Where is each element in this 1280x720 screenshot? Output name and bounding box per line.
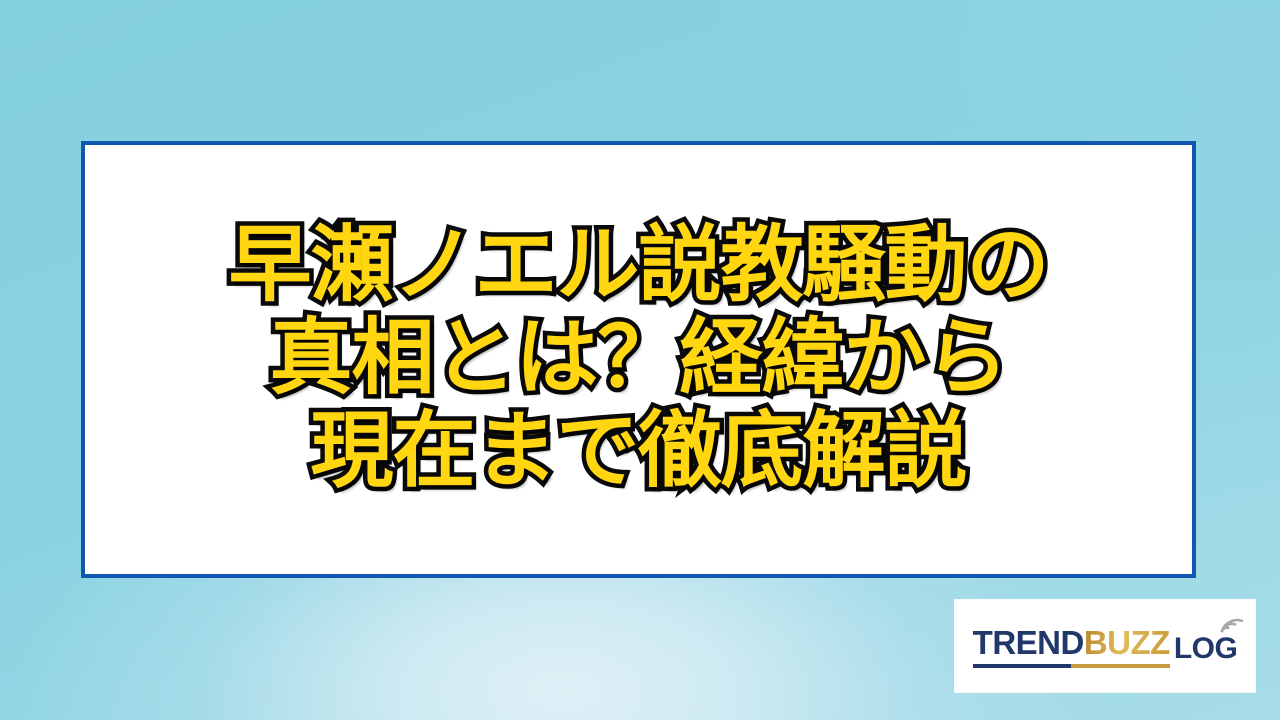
logo-words: TREND BUZZ xyxy=(973,624,1170,662)
thumbnail-canvas: 早瀬ノエル説教騒動の 真相とは？経緯から 現在まで徹底解説 TREND BUZZ… xyxy=(0,0,1280,720)
title-line-3: 現在まで徹底解説 xyxy=(311,404,967,497)
logo-text-buzz: BUZZ xyxy=(1084,624,1170,662)
logo-underline-gold xyxy=(1071,664,1170,668)
wifi-signal-icon xyxy=(1213,610,1243,636)
logo-underline xyxy=(973,664,1170,668)
title-line-2: 真相とは？経緯から xyxy=(270,311,1008,404)
logo-underline-navy xyxy=(973,664,1072,668)
logo-text-log: LOG xyxy=(1174,632,1238,666)
logo-wordmark: TREND BUZZ xyxy=(973,624,1170,668)
logo-text-trend: TREND xyxy=(973,624,1084,662)
logo-log-wrap: LOG xyxy=(1174,632,1238,668)
title-line-1: 早瀬ノエル説教騒動の xyxy=(229,218,1049,311)
site-logo[interactable]: TREND BUZZ LOG xyxy=(955,600,1255,692)
title-panel: 早瀬ノエル説教騒動の 真相とは？経緯から 現在まで徹底解説 xyxy=(81,141,1196,578)
logo-inner: TREND BUZZ LOG xyxy=(967,624,1244,668)
title-block: 早瀬ノエル説教騒動の 真相とは？経緯から 現在まで徹底解説 xyxy=(85,145,1192,574)
